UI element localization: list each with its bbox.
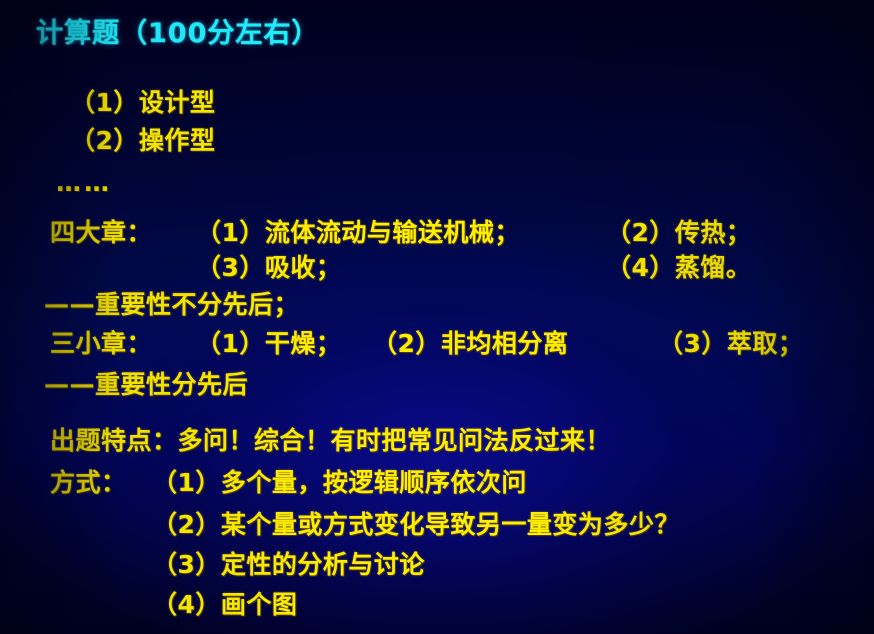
four-chapters-item-4: （4）蒸馏。 [606,255,751,280]
exam-method-label: 方式： [50,470,127,495]
three-chapters-item-2: （2）非均相分离 [372,331,568,356]
three-chapters-note: ——重要性分先后 [44,372,248,397]
three-chapters-item-3: （3）萃取； [658,331,803,356]
intro-ellipsis: …… [56,170,112,195]
four-chapters-note: ——重要性不分先后； [44,292,299,317]
slide-title: 计算题（100分左右） [36,20,319,47]
four-chapters-item-2: （2）传热； [606,220,751,245]
exam-method-4: （4）画个图 [152,592,297,617]
presentation-slide: 计算题（100分左右） （1）设计型 （2）操作型 …… 四大章： （1）流体流… [0,0,874,634]
exam-method-3: （3）定性的分析与讨论 [152,552,425,577]
four-chapters-item-1: （1）流体流动与输送机械； [196,220,520,245]
exam-features: 出题特点：多问！综合！有时把常见问法反过来！ [50,428,611,453]
three-chapters-item-1: （1）干燥； [196,331,341,356]
three-chapters-label: 三小章： [50,331,152,356]
exam-method-2: （2）某个量或方式变化导致另一量变为多少？ [152,512,680,537]
intro-item-1: （1）设计型 [70,90,215,115]
intro-item-2: （2）操作型 [70,128,215,153]
exam-method-1: （1）多个量，按逻辑顺序依次问 [152,470,527,495]
four-chapters-item-3: （3）吸收； [196,255,341,280]
four-chapters-label: 四大章： [50,220,152,245]
